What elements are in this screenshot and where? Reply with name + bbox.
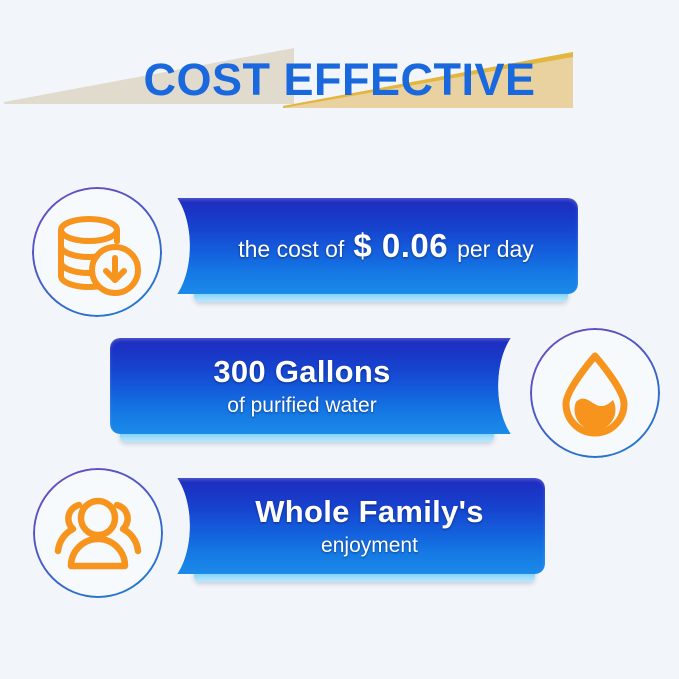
coin-stack-down-arrow-icon-circle [32, 187, 162, 317]
page-title: COST EFFECTIVE [0, 44, 679, 116]
water-drop-icon-circle [530, 328, 660, 458]
family-group-icon-circle [33, 468, 163, 598]
family-group-icon [33, 468, 163, 598]
bar-face [110, 338, 528, 434]
benefit-bar-gallons: 300 Gallons of purified water [110, 338, 528, 442]
bar-face [160, 198, 578, 294]
infographic-canvas: COST EFFECTIVE the cost of $ 0.06 per da… [0, 0, 679, 679]
water-drop-icon [530, 328, 660, 458]
benefit-bar-cost: the cost of $ 0.06 per day [160, 198, 578, 302]
page-title-block: COST EFFECTIVE [0, 44, 679, 116]
bar-face [160, 478, 545, 574]
coin-stack-down-arrow-icon [32, 187, 162, 317]
benefit-bar-family: Whole Family's enjoyment [160, 478, 545, 582]
